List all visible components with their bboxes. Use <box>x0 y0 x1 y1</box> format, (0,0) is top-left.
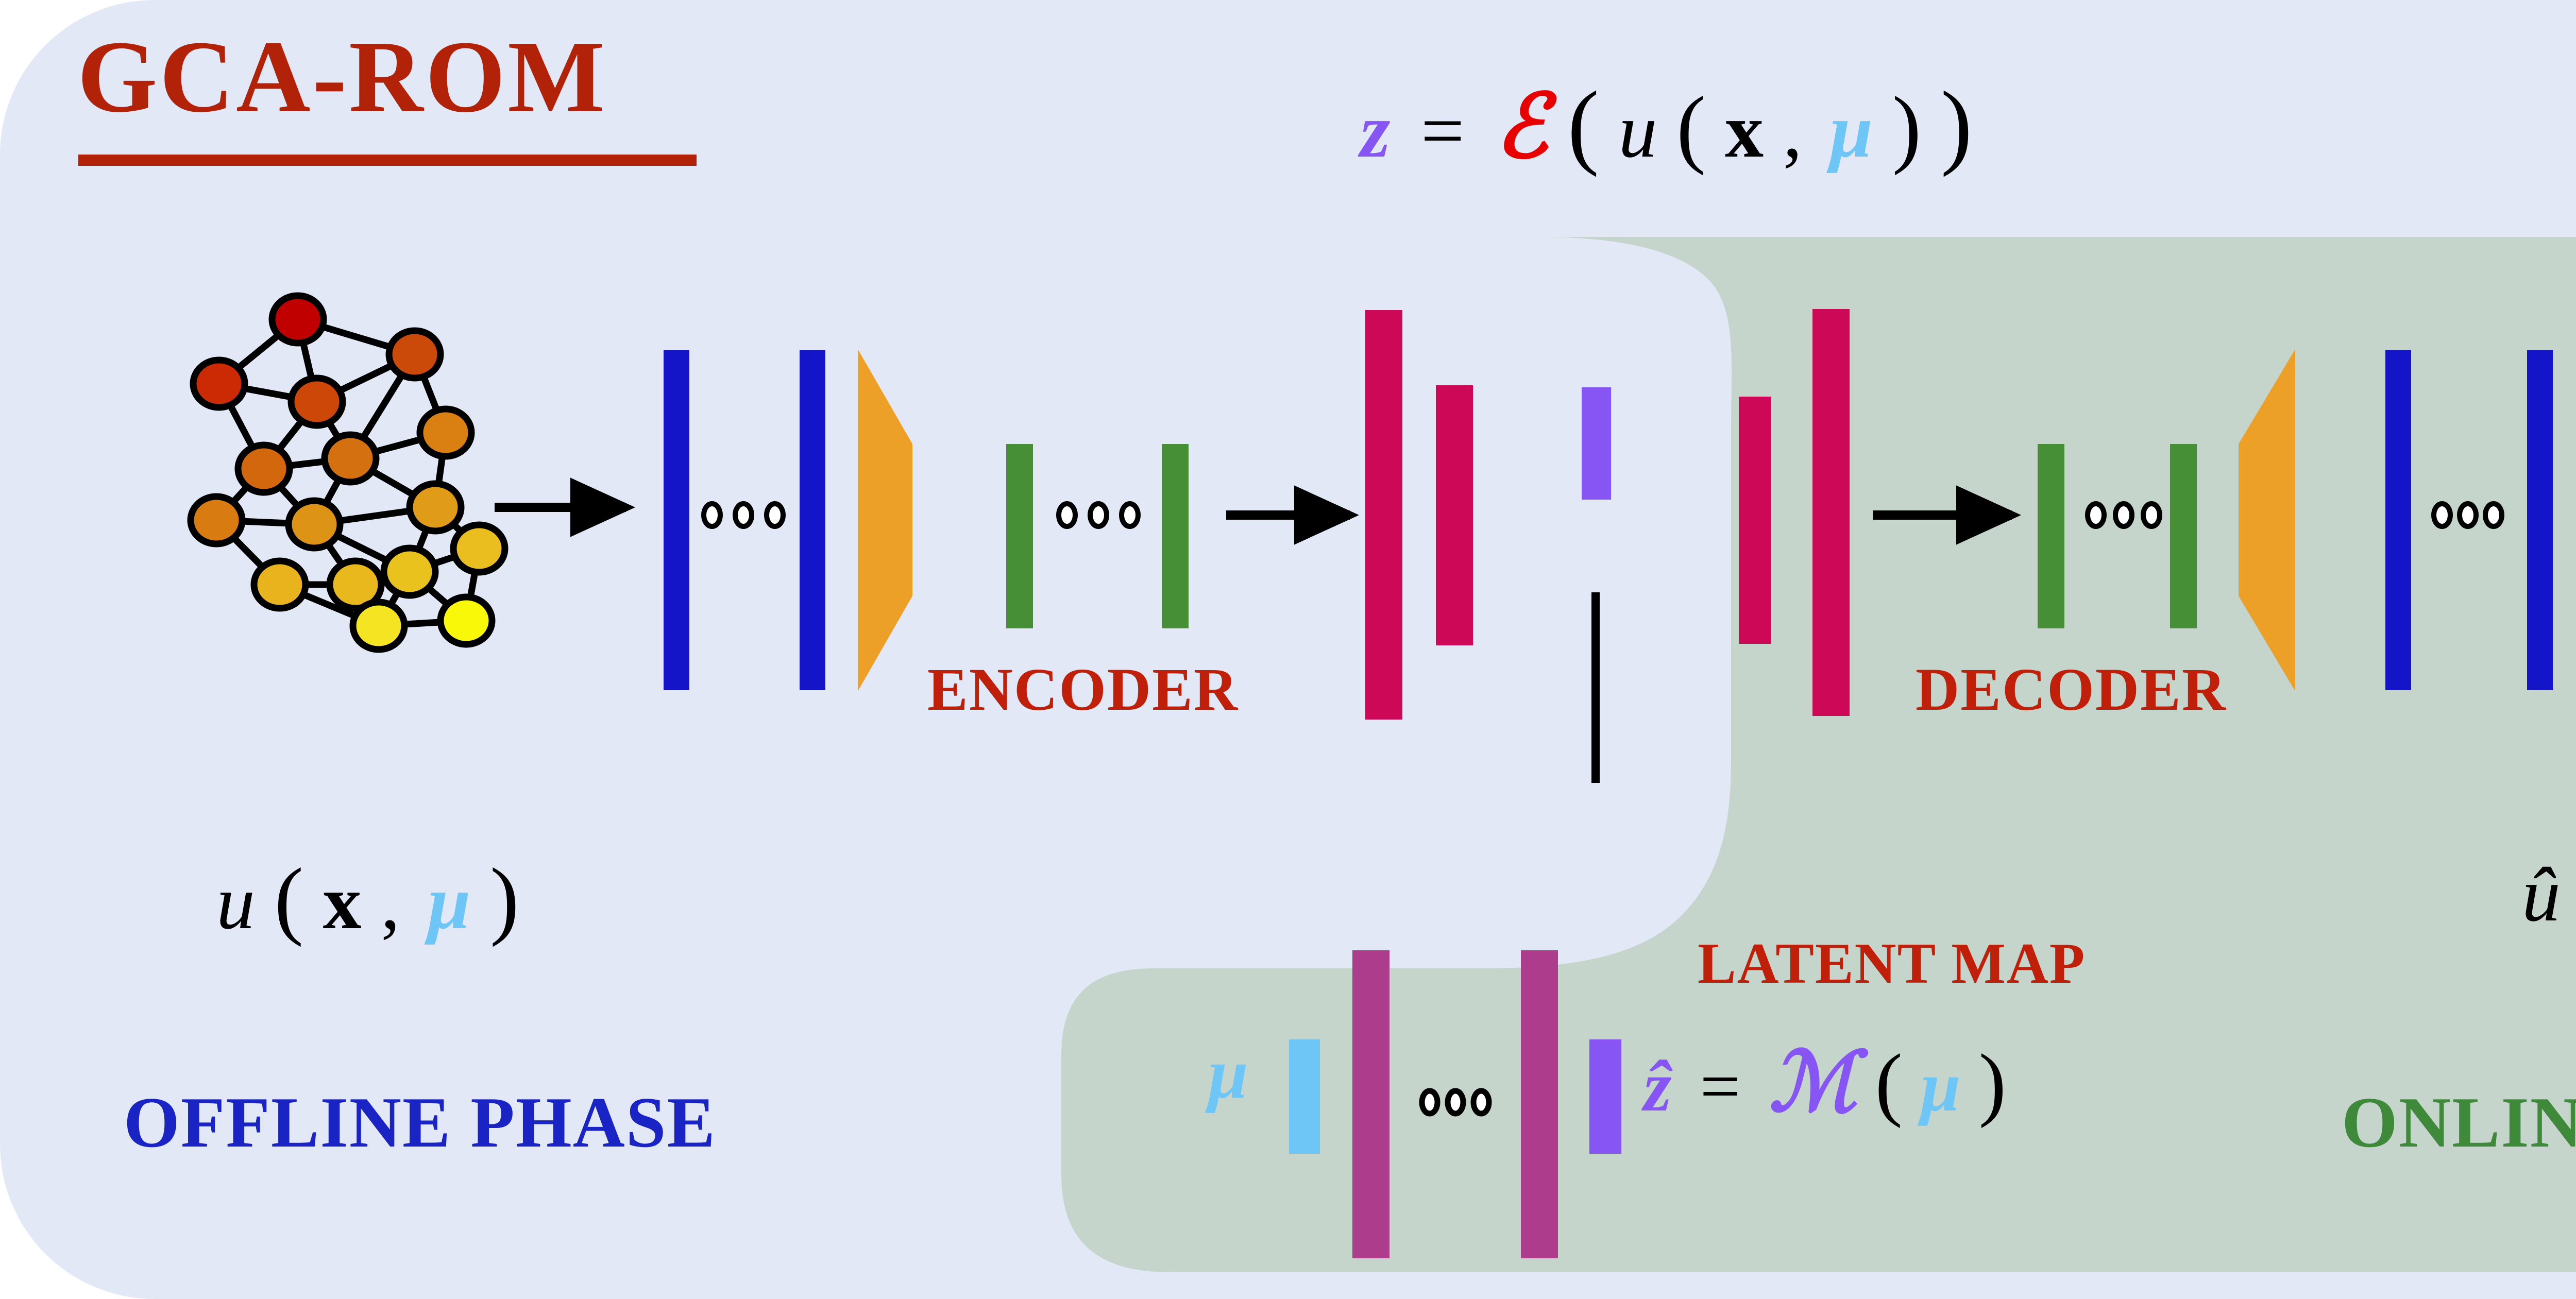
eq-encode-open-paren-2: ( <box>1676 79 1706 176</box>
eq-input-comma: , <box>381 860 400 945</box>
eq-latent-close-paren: ) <box>1979 1037 2006 1129</box>
eq-decode-uhat: û <box>2522 852 2561 937</box>
page-title: GCA-ROM <box>77 26 607 129</box>
latentmap-layer-magenta-1 <box>1352 950 1389 1258</box>
eq-input-mu: μ <box>428 860 470 945</box>
latentmap-purple-layer <box>1589 1039 1621 1154</box>
encoder-layer-green-2 <box>1162 444 1189 628</box>
equation-input-field: u ( x , μ ) <box>216 855 519 943</box>
eq-encode-close-paren-2: ) <box>1892 79 1922 176</box>
eq-encode-comma: , <box>1783 88 1803 174</box>
eq-input-close-paren: ) <box>490 850 519 947</box>
ellipsis-decoder-green <box>2088 504 2160 526</box>
equation-decode: û ( x , μ ) = 𝒟 ( z ) <box>2522 847 2576 935</box>
figure-canvas: GCA-ROM z = ℰ ( u ( x , μ ) ) ENCODER DE… <box>0 0 2576 1299</box>
decoder-layer-blue-1 <box>2385 350 2411 690</box>
eq-latent-operator: ℳ <box>1769 1033 1857 1130</box>
ellipsis-encoder-green <box>1059 504 1138 526</box>
input-graph <box>191 296 505 649</box>
eq-encode-u: u <box>1619 88 1657 174</box>
encoder-layer-green-1 <box>1006 444 1033 628</box>
ellipsis-encoder-blue <box>704 504 783 526</box>
online-phase-label: ONLINE PHASE <box>2342 1087 2576 1159</box>
latentmap-layer-magenta-2 <box>1521 950 1558 1258</box>
encoder-label: ENCODER <box>927 659 1239 720</box>
ellipsis-latentmap <box>1422 1091 1489 1114</box>
eq-encode-open-paren-1: ( <box>1567 72 1599 178</box>
ellipsis-decoder-blue <box>2434 504 2502 526</box>
eq-input-x: x <box>323 860 362 945</box>
latentmap-layer-lightblue <box>1289 1039 1320 1154</box>
eq-encode-equals: = <box>1421 88 1465 174</box>
latent-map-label: LATENT MAP <box>1698 935 2086 993</box>
decoder-layer-crimson-2 <box>1812 309 1850 716</box>
decoder-label: DECODER <box>1916 659 2227 720</box>
eq-input-open-paren: ( <box>275 850 304 947</box>
decoder-layer-green-2 <box>2170 444 2197 628</box>
equation-latent-map: ẑ = ℳ ( μ ) <box>1643 1040 2006 1124</box>
eq-encode-operator: ℰ <box>1495 75 1548 178</box>
latent-layer-crimson-1 <box>1365 310 1402 720</box>
decoder-layer-green-1b <box>2038 444 2064 628</box>
encoder-trapezoid <box>858 349 912 691</box>
offline-phase-label: OFFLINE PHASE <box>124 1087 716 1159</box>
eq-encode-close-paren-1: ) <box>1941 72 1973 178</box>
eq-encode-mu: μ <box>1830 88 1873 174</box>
latent-layer-crimson-2 <box>1436 385 1473 645</box>
eq-encode-z: z <box>1360 88 1390 174</box>
eq-encode-x: x <box>1725 88 1764 174</box>
eq-latent-mu: μ <box>1921 1047 1961 1126</box>
encoder-layer-blue-1 <box>664 350 689 690</box>
decoder-layer-crimson-1 <box>1739 397 1771 644</box>
latent-map-mu-input: μ <box>1208 1038 1248 1110</box>
equation-encode: z = ℰ ( u ( x , μ ) ) <box>1360 77 1972 173</box>
encoder-layer-blue-2 <box>800 350 825 690</box>
eq-input-u: u <box>216 860 255 945</box>
eq-latent-zhat: ẑ <box>1643 1047 1671 1126</box>
decoder-layer-blue-2 <box>2527 350 2553 690</box>
eq-latent-open-paren: ( <box>1875 1037 1903 1129</box>
latent-layer-purple <box>1582 387 1611 500</box>
graph-node <box>191 296 505 649</box>
eq-latent-equals: = <box>1700 1047 1740 1126</box>
title-underline <box>78 155 697 166</box>
